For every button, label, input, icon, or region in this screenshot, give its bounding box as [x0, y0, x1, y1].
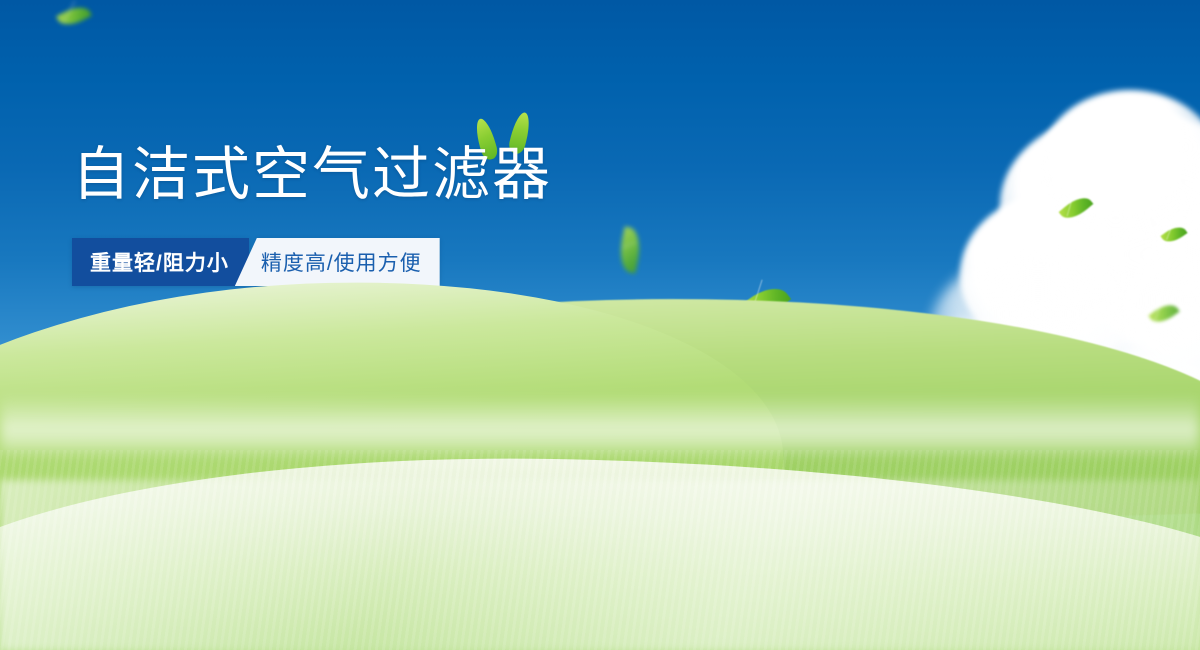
page-title: 自洁式空气过滤器 — [72, 145, 552, 203]
horizon-haze — [0, 394, 1200, 454]
subtitle-left: 重量轻/阻力小 — [72, 238, 249, 286]
grass-field — [0, 420, 1200, 650]
product-banner: 自洁式空气过滤器 重量轻/阻力小 精度高/使用方便 — [0, 0, 1200, 650]
subtitle-bar: 重量轻/阻力小 精度高/使用方便 — [72, 238, 440, 286]
subtitle-right: 精度高/使用方便 — [235, 238, 440, 286]
